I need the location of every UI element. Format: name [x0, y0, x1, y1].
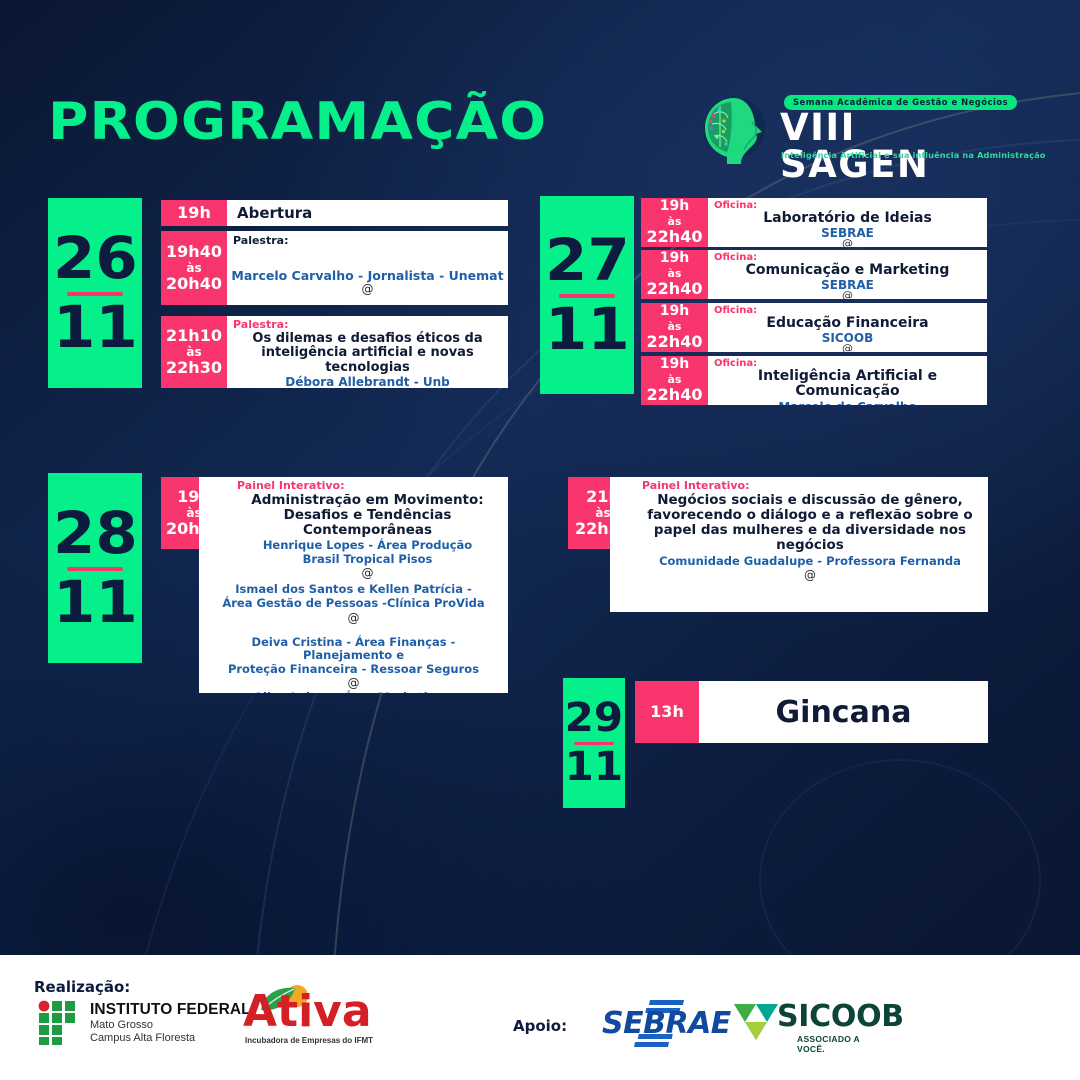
session-speaker: Débora Allebrandt - Unb	[227, 375, 508, 388]
session-card-oficina-2: Oficina: Comunicação e Marketing SEBRAE …	[708, 250, 987, 299]
time-cell-oficina-4: 19h às 22h40	[641, 356, 708, 405]
brain-head-icon	[700, 92, 778, 170]
time-separator: às	[668, 320, 682, 333]
realizacao-label: Realização:	[34, 978, 130, 996]
time-cell-13h: 13h	[635, 681, 699, 743]
session-card-painel-administracao: Painel Interativo: Administração em Movi…	[199, 477, 508, 693]
sicoob-triangle-icon	[733, 1002, 779, 1042]
session-title: Inteligência Artificial e Comunicação	[708, 369, 987, 400]
session-card-palestra-debora: Palestra: Os dilemas e desafios éticos d…	[227, 316, 508, 388]
time-separator: às	[186, 261, 201, 275]
time-end: 22h40	[647, 333, 703, 351]
logo-title: VIII SAGEN	[780, 109, 1012, 183]
time-start: 19h	[177, 204, 211, 222]
time-cell-19h: 19h	[161, 200, 227, 226]
ativa-tagline: Incubadora de Empresas do IFMT	[245, 1036, 373, 1045]
session-title: Gincana	[699, 681, 988, 743]
time-cell-oficina-3: 19h às 22h40	[641, 303, 708, 352]
time-end: 22h40	[647, 386, 703, 404]
sicoob-tagline: ASSOCIADO A VOCÊ.	[797, 1034, 883, 1054]
if-line-3: Campus Alta Floresta	[90, 1032, 251, 1045]
ativa-wordmark: Ativa	[243, 990, 372, 1034]
session-kicker: Painel Interativo:	[642, 480, 982, 493]
time-start: 19h	[660, 304, 689, 320]
time-cell-19h40: 19h40 às 20h40	[161, 231, 227, 305]
session-at: @	[205, 612, 502, 625]
session-card-palestra-marcelo: Palestra: Marcelo Carvalho - Jornalista …	[227, 231, 508, 305]
session-speaker: Henrique Lopes - Área Produção Brasil Tr…	[233, 539, 502, 567]
sagen-logo: Semana Acadêmica de Gestão e Negócios VI…	[700, 92, 1012, 170]
session-card-oficina-4: Oficina: Inteligência Artificial e Comun…	[708, 356, 987, 405]
time-start: 19h	[660, 251, 689, 267]
if-grid-icon	[38, 1000, 81, 1046]
logo-text-block: Semana Acadêmica de Gestão e Negócios VI…	[776, 92, 1012, 170]
time-start: 21h10	[166, 327, 222, 345]
time-start: 13h	[650, 703, 684, 721]
time-end: 22h30	[166, 359, 222, 377]
time-separator: às	[595, 506, 610, 520]
session-title: Os dilemas e desafios éticos da inteligê…	[227, 332, 508, 376]
sicoob-logo: SICOOB ASSOCIADO A VOCÊ.	[733, 998, 883, 1050]
date-chip-26: 26 11	[48, 198, 142, 388]
date-chip-28: 28 11	[48, 473, 142, 663]
session-speaker: Marcelo Carvalho - Jornalista - Unemat	[227, 268, 508, 283]
session-at: @	[638, 569, 982, 582]
session-speaker: Ismael dos Santos e Kellen Patrícia - Ár…	[205, 583, 502, 611]
ativa-logo: Ativa Incubadora de Empresas do IFMT	[243, 988, 383, 1050]
session-card-oficina-3: Oficina: Educação Financeira SICOOB @	[708, 303, 987, 352]
sebrae-wordmark: SEBRAE	[602, 1009, 731, 1039]
session-at: @	[708, 290, 987, 299]
time-start: 19h	[660, 357, 689, 373]
sebrae-logo: SEBRAE	[592, 1000, 710, 1048]
session-at: @	[227, 283, 508, 296]
session-title: Laboratório de Ideias	[708, 211, 987, 227]
date-day: 29	[565, 700, 623, 737]
session-card-abertura: Abertura	[227, 200, 508, 226]
session-speaker: Comunidade Guadalupe - Professora Fernan…	[638, 555, 982, 569]
date-month: 11	[545, 303, 630, 356]
session-card-gincana: Gincana	[699, 681, 988, 743]
poster-header: PROGRAMAÇÃO	[0, 0, 1080, 190]
date-chip-29: 29 11	[563, 678, 625, 808]
date-chip-27: 27 11	[540, 196, 634, 394]
logo-tagline: Inteligência Artificial e sua influência…	[781, 150, 1046, 160]
date-day: 28	[53, 507, 138, 560]
if-text: INSTITUTO FEDERAL Mato Grosso Campus Alt…	[90, 1001, 251, 1044]
session-kicker: Painel Interativo:	[237, 480, 502, 493]
session-speaker: Aline Leless - Área Marketing - Mentora …	[205, 691, 502, 693]
date-month: 11	[53, 301, 138, 354]
time-end: 22h40	[647, 228, 703, 246]
time-separator: às	[668, 373, 682, 386]
time-start: 19h40	[166, 243, 222, 261]
session-kicker: Palestra:	[227, 319, 508, 332]
page-title: PROGRAMAÇÃO	[48, 96, 547, 148]
apoio-label: Apoio:	[513, 1017, 567, 1035]
time-cell-oficina-1: 19h às 22h40	[641, 198, 708, 247]
session-title: Administração em Movimento: Desafios e T…	[233, 493, 502, 538]
date-day: 26	[53, 232, 138, 285]
session-card-oficina-1: Oficina: Laboratório de Ideias SEBRAE @	[708, 198, 987, 247]
session-title: Comunicação e Marketing	[708, 263, 987, 279]
time-separator: às	[668, 267, 682, 280]
session-title: Negócios sociais e discussão de gênero, …	[638, 493, 982, 553]
if-line-2: Mato Grosso	[90, 1019, 251, 1032]
session-at: @	[205, 677, 502, 690]
date-day: 27	[545, 234, 630, 287]
time-end: 22h40	[647, 280, 703, 298]
time-end: 20h40	[166, 275, 222, 293]
session-at: @	[233, 567, 502, 580]
sicoob-wordmark: SICOOB	[777, 1002, 904, 1032]
time-start: 19h	[660, 199, 689, 215]
session-speaker: Marcelo de Carvalho	[708, 400, 987, 405]
session-at: @	[708, 238, 987, 247]
time-separator: às	[186, 345, 201, 359]
session-title: Abertura	[227, 200, 508, 226]
time-cell-oficina-2: 19h às 22h40	[641, 250, 708, 299]
if-line-1: INSTITUTO FEDERAL	[90, 1001, 251, 1019]
session-title: Educação Financeira	[708, 316, 987, 332]
time-separator: às	[668, 215, 682, 228]
date-month: 11	[565, 749, 623, 786]
session-at: @	[708, 343, 987, 352]
session-kicker: Palestra:	[227, 235, 508, 248]
session-card-painel-negocios: Painel Interativo: Negócios sociais e di…	[610, 477, 988, 612]
instituto-federal-logo: INSTITUTO FEDERAL Mato Grosso Campus Alt…	[38, 1000, 251, 1046]
date-month: 11	[53, 576, 138, 629]
time-cell-21h10: 21h10 às 22h30	[161, 316, 227, 388]
session-speaker: Deiva Cristina - Área Finanças - Planeja…	[205, 636, 502, 677]
